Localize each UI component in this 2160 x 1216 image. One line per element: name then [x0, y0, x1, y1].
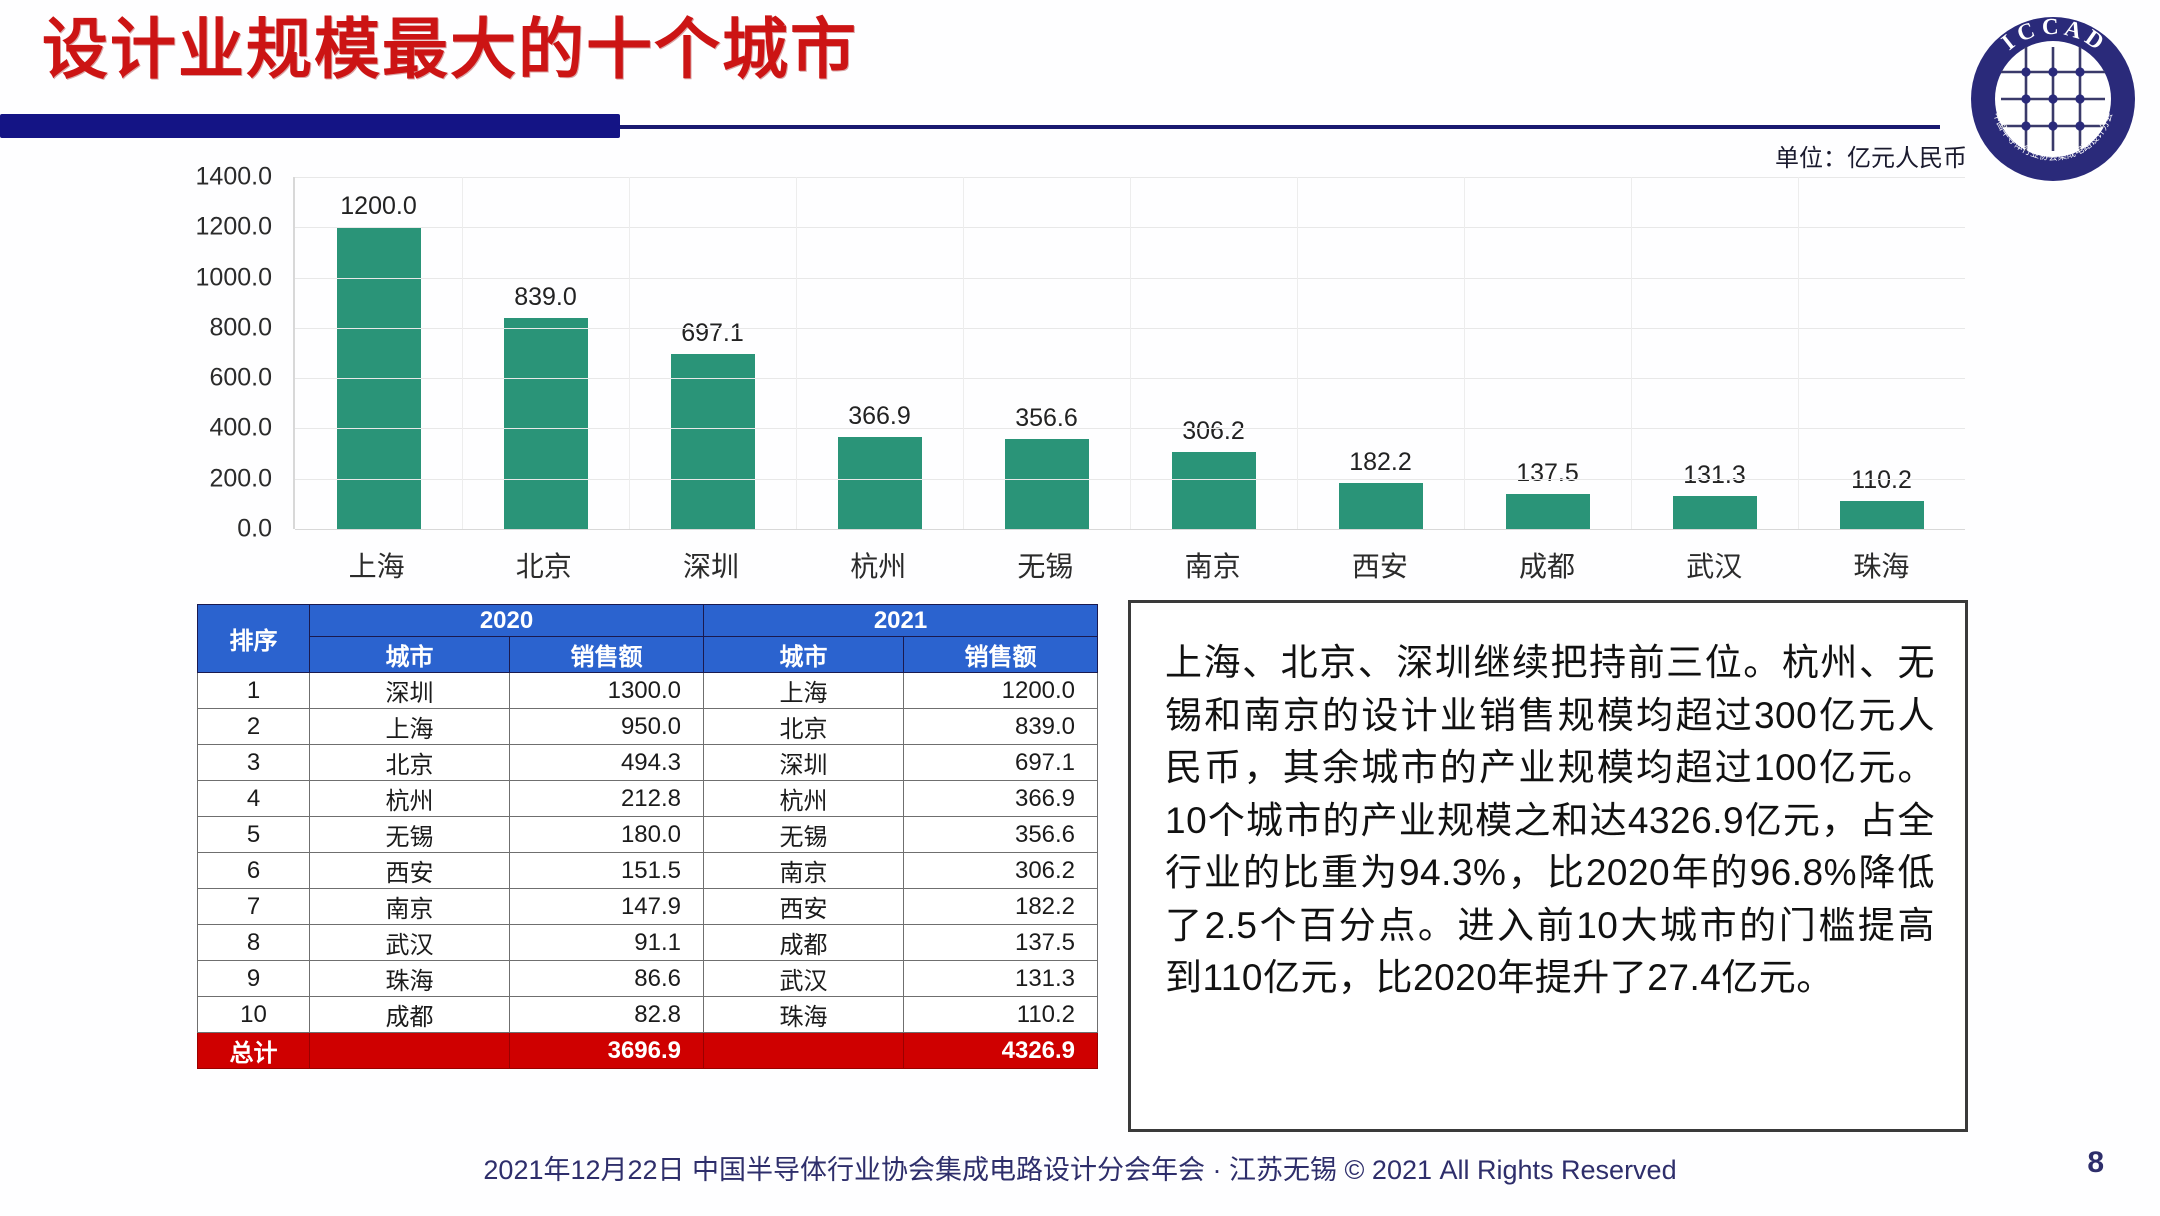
title-underline-thick [0, 114, 620, 138]
header-sales-2020: 销售额 [510, 637, 704, 673]
cell-city2020: 成都 [310, 997, 510, 1033]
x-tick-label: 上海 [293, 545, 460, 585]
chart-bar-cell: 697.1 [629, 177, 796, 529]
commentary-text: 上海、北京、深圳继续把持前三位。杭州、无锡和南京的设计业销售规模均超过300亿元… [1165, 637, 1935, 1005]
chart-bar-value-label: 131.3 [1683, 461, 1746, 490]
chart-bar-cell: 306.2 [1130, 177, 1297, 529]
chart-bar-value-label: 366.9 [848, 402, 911, 431]
total-city2021 [704, 1033, 904, 1069]
cell-sales2021: 182.2 [904, 889, 1098, 925]
table-header-row-1: 排序 2020 2021 [198, 605, 1098, 637]
chart-bar-cell: 366.9 [796, 177, 963, 529]
table-row: 8武汉91.1成都137.5 [198, 925, 1098, 961]
grid-line [295, 529, 1965, 530]
chart-bar-cell: 356.6 [963, 177, 1130, 529]
x-tick-label: 武汉 [1631, 545, 1798, 585]
chart-bar-cell: 182.2 [1297, 177, 1464, 529]
y-tick-label: 1200.0 [172, 213, 272, 242]
cell-rank: 3 [198, 745, 310, 781]
cell-sales2020: 86.6 [510, 961, 704, 997]
cell-sales2020: 91.1 [510, 925, 704, 961]
table-row: 4杭州212.8杭州366.9 [198, 781, 1098, 817]
cell-sales2021: 366.9 [904, 781, 1098, 817]
chart-bar-cell: 1200.0 [295, 177, 462, 529]
cell-sales2021: 137.5 [904, 925, 1098, 961]
chart-bar [671, 354, 755, 529]
cell-rank: 7 [198, 889, 310, 925]
grid-line-vertical [963, 177, 964, 529]
header-sales-2021: 销售额 [904, 637, 1098, 673]
chart-bar [838, 437, 922, 529]
grid-line-vertical [462, 177, 463, 529]
chart-bar-value-label: 137.5 [1516, 459, 1579, 488]
y-tick-label: 400.0 [172, 414, 272, 443]
chart-bar-value-label: 182.2 [1349, 448, 1412, 477]
cell-sales2020: 147.9 [510, 889, 704, 925]
cell-city2021: 珠海 [704, 997, 904, 1033]
chart-bar [504, 318, 588, 529]
cell-sales2021: 1200.0 [904, 673, 1098, 709]
cell-city2021: 武汉 [704, 961, 904, 997]
cell-city2020: 南京 [310, 889, 510, 925]
grid-line-vertical [629, 177, 630, 529]
cell-rank: 2 [198, 709, 310, 745]
chart-bar [1506, 494, 1590, 529]
slide-root: 设计业规模最大的十个城市 I C C A D [0, 0, 2160, 1216]
total-sales2021: 4326.9 [904, 1033, 1098, 1069]
x-tick-label: 北京 [460, 545, 627, 585]
cell-sales2020: 151.5 [510, 853, 704, 889]
cell-sales2020: 494.3 [510, 745, 704, 781]
x-tick-label: 深圳 [627, 545, 794, 585]
y-tick-label: 1000.0 [172, 263, 272, 292]
x-tick-label: 杭州 [795, 545, 962, 585]
header-rank: 排序 [198, 605, 310, 673]
page-number: 8 [2087, 1146, 2104, 1180]
table-row: 7南京147.9西安182.2 [198, 889, 1098, 925]
table-row: 9珠海86.6武汉131.3 [198, 961, 1098, 997]
chart-bar-cell: 110.2 [1798, 177, 1965, 529]
cell-rank: 5 [198, 817, 310, 853]
cell-rank: 6 [198, 853, 310, 889]
total-city2020 [310, 1033, 510, 1069]
bar-chart: 1400.01200.01000.0800.0600.0400.0200.00.… [175, 160, 1965, 580]
cell-city2020: 上海 [310, 709, 510, 745]
chart-bar [1840, 501, 1924, 529]
cell-sales2020: 82.8 [510, 997, 704, 1033]
chart-bar-cell: 131.3 [1631, 177, 1798, 529]
grid-line-vertical [1464, 177, 1465, 529]
chart-bar [1339, 483, 1423, 529]
cell-rank: 1 [198, 673, 310, 709]
cell-city2020: 西安 [310, 853, 510, 889]
chart-bar [1673, 496, 1757, 529]
cell-sales2020: 180.0 [510, 817, 704, 853]
grid-line-vertical [1798, 177, 1799, 529]
x-tick-label: 无锡 [962, 545, 1129, 585]
cell-city2020: 杭州 [310, 781, 510, 817]
cell-city2021: 上海 [704, 673, 904, 709]
grid-line-vertical [1297, 177, 1298, 529]
y-tick-label: 0.0 [172, 515, 272, 544]
cell-sales2021: 306.2 [904, 853, 1098, 889]
chart-bar-value-label: 697.1 [681, 319, 744, 348]
cell-sales2021: 697.1 [904, 745, 1098, 781]
chart-y-axis: 1400.01200.01000.0800.0600.0400.0200.00.… [175, 160, 280, 516]
page-title: 设计业规模最大的十个城市 [42, 12, 858, 88]
x-tick-label: 成都 [1463, 545, 1630, 585]
cell-city2020: 武汉 [310, 925, 510, 961]
table-row: 2上海950.0北京839.0 [198, 709, 1098, 745]
x-tick-label: 西安 [1296, 545, 1463, 585]
table-row: 10成都82.8珠海110.2 [198, 997, 1098, 1033]
cell-rank: 10 [198, 997, 310, 1033]
header-year-2020: 2020 [310, 605, 704, 637]
grid-line-vertical [796, 177, 797, 529]
chart-bar-value-label: 1200.0 [340, 192, 416, 221]
y-tick-label: 200.0 [172, 464, 272, 493]
cell-rank: 4 [198, 781, 310, 817]
x-tick-label: 南京 [1129, 545, 1296, 585]
cell-sales2021: 131.3 [904, 961, 1098, 997]
table-row: 1深圳1300.0上海1200.0 [198, 673, 1098, 709]
header-city-2020: 城市 [310, 637, 510, 673]
footer-text: 2021年12月22日 中国半导体行业协会集成电路设计分会年会 · 江苏无锡 ©… [0, 1148, 2160, 1187]
cell-sales2020: 1300.0 [510, 673, 704, 709]
cell-city2021: 南京 [704, 853, 904, 889]
table-row: 6西安151.5南京306.2 [198, 853, 1098, 889]
cell-sales2021: 356.6 [904, 817, 1098, 853]
chart-bar-value-label: 306.2 [1182, 417, 1245, 446]
table-row: 3北京494.3深圳697.1 [198, 745, 1098, 781]
y-tick-label: 600.0 [172, 364, 272, 393]
cell-city2020: 珠海 [310, 961, 510, 997]
cell-city2020: 无锡 [310, 817, 510, 853]
chart-x-axis: 上海北京深圳杭州无锡南京西安成都武汉珠海 [293, 545, 1965, 585]
chart-bar [1172, 452, 1256, 529]
total-sales2020: 3696.9 [510, 1033, 704, 1069]
commentary-box: 上海、北京、深圳继续把持前三位。杭州、无锡和南京的设计业销售规模均超过300亿元… [1128, 600, 1968, 1132]
chart-bar-cell: 137.5 [1464, 177, 1631, 529]
iccad-logo: I C C A D 中国半导体行业协会集成电路设计分会 [1968, 14, 2138, 184]
cell-rank: 8 [198, 925, 310, 961]
x-tick-label: 珠海 [1798, 545, 1965, 585]
total-label: 总计 [198, 1033, 310, 1069]
cell-sales2021: 110.2 [904, 997, 1098, 1033]
cell-city2020: 深圳 [310, 673, 510, 709]
cell-rank: 9 [198, 961, 310, 997]
cell-city2021: 北京 [704, 709, 904, 745]
cell-city2021: 杭州 [704, 781, 904, 817]
y-tick-label: 1400.0 [172, 163, 272, 192]
cell-sales2021: 839.0 [904, 709, 1098, 745]
ranking-table: 排序 2020 2021 城市 销售额 城市 销售额 1深圳1300.0上海12… [197, 604, 1097, 1069]
table-row: 5无锡180.0无锡356.6 [198, 817, 1098, 853]
table-header-row-2: 城市 销售额 城市 销售额 [198, 637, 1098, 673]
chart-bar-value-label: 839.0 [514, 283, 577, 312]
cell-sales2020: 212.8 [510, 781, 704, 817]
cell-city2020: 北京 [310, 745, 510, 781]
chart-bar [1005, 439, 1089, 529]
header-city-2021: 城市 [704, 637, 904, 673]
y-tick-label: 800.0 [172, 313, 272, 342]
header-year-2021: 2021 [704, 605, 1098, 637]
cell-sales2020: 950.0 [510, 709, 704, 745]
cell-city2021: 西安 [704, 889, 904, 925]
chart-plot-area: 1200.0839.0697.1366.9356.6306.2182.2137.… [293, 177, 1965, 529]
chart-bar-cell: 839.0 [462, 177, 629, 529]
cell-city2021: 成都 [704, 925, 904, 961]
grid-line-vertical [1130, 177, 1131, 529]
cell-city2021: 深圳 [704, 745, 904, 781]
table-total-row: 总计3696.94326.9 [198, 1033, 1098, 1069]
cell-city2021: 无锡 [704, 817, 904, 853]
chart-bar-value-label: 110.2 [1851, 466, 1912, 495]
grid-line-vertical [1631, 177, 1632, 529]
